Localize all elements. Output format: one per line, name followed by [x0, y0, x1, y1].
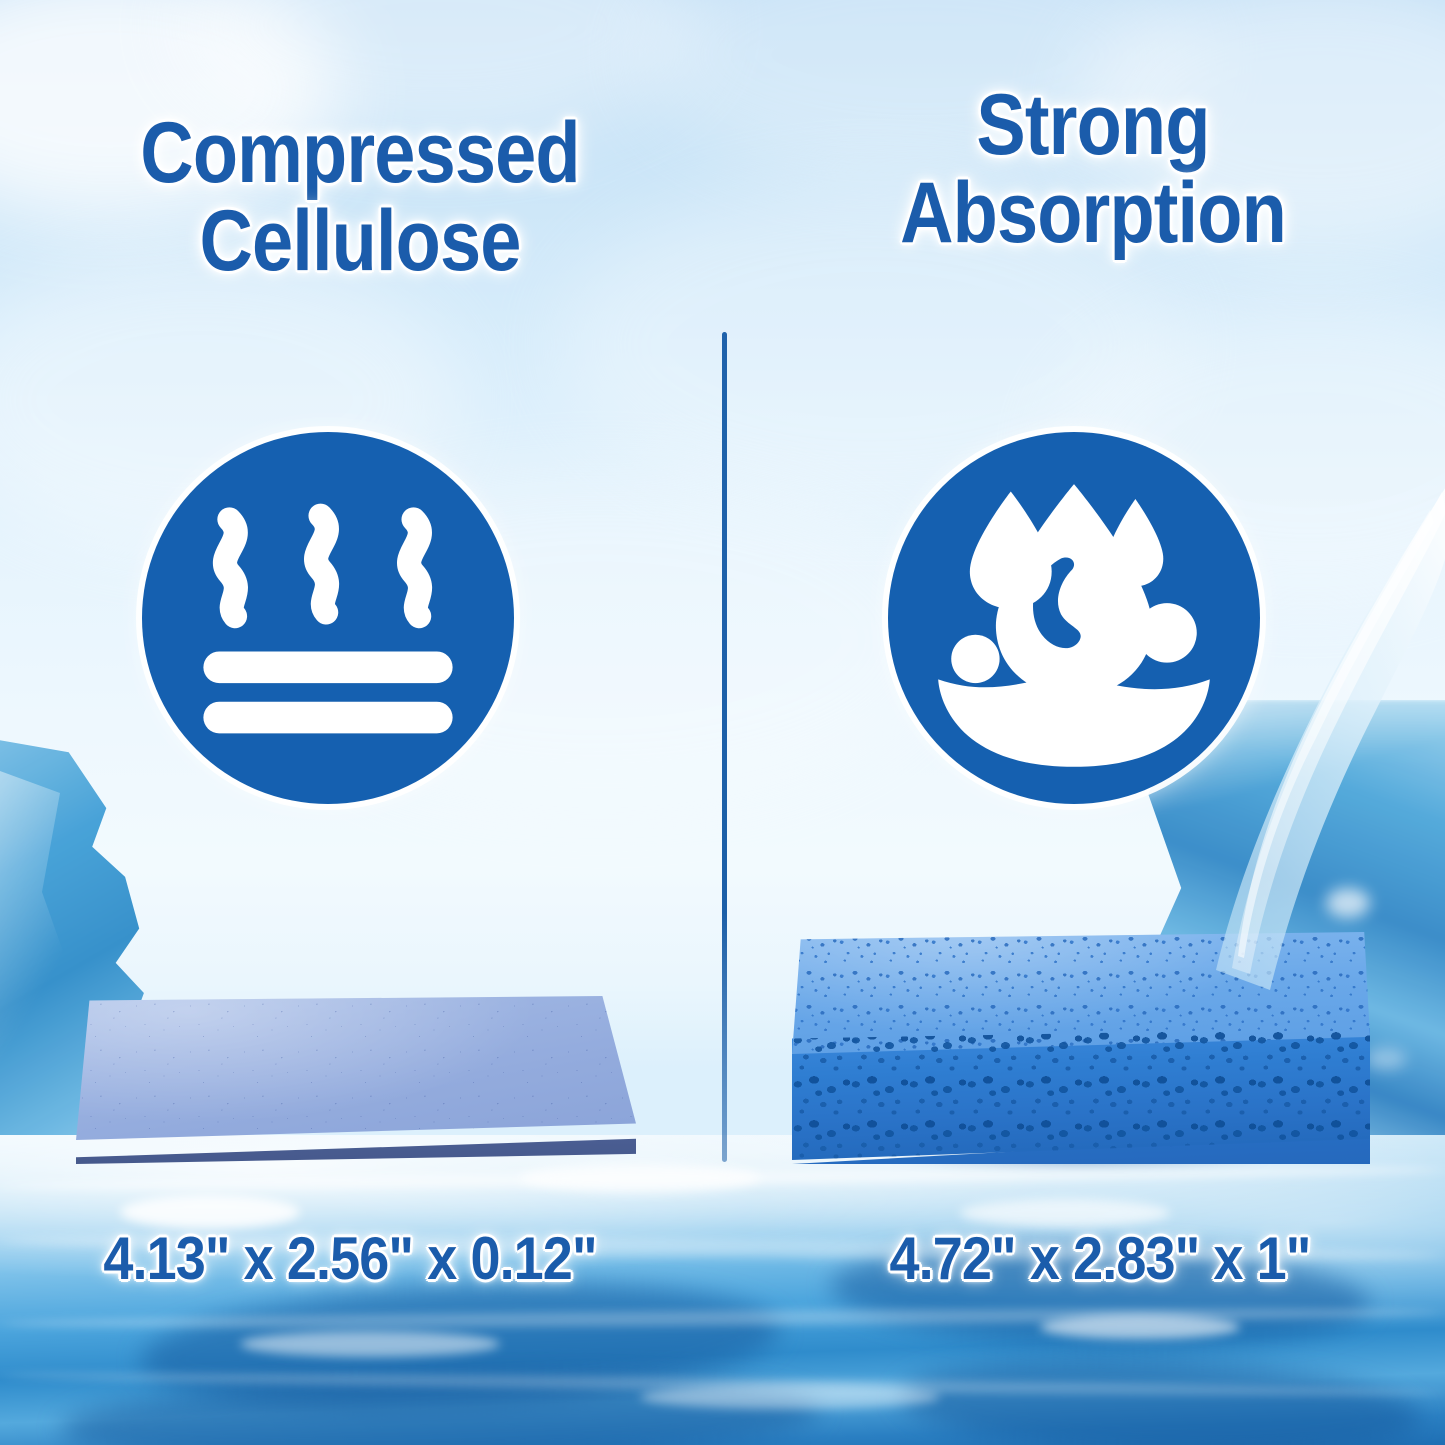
product-compressed-sheet [76, 996, 636, 1166]
product-expanded-sponge [792, 932, 1370, 1164]
headline-line-2: Cellulose [68, 198, 653, 286]
water-wave [898, 1349, 1422, 1445]
water-foam [240, 1331, 500, 1357]
panel-divider [722, 332, 727, 1162]
water-foam [960, 1199, 1170, 1227]
headline-line-1: Compressed [140, 105, 579, 201]
badge-water-absorption [888, 432, 1260, 804]
headline-line-1: Strong [976, 77, 1209, 173]
badge-compressed-layers [142, 432, 514, 804]
dimensions-compressed-sheet: 4.13" x 2.56" x 0.12" [53, 1224, 647, 1293]
water-droplet-absorption-icon [888, 432, 1260, 804]
sheet-texture [76, 996, 636, 1146]
compressed-layers-icon [142, 432, 514, 804]
sponge-top-face [792, 932, 1370, 1054]
water-foam [1040, 1315, 1240, 1339]
water-foam [640, 1385, 940, 1409]
headline-line-2: Absorption [796, 170, 1389, 258]
headline-compressed-cellulose: Compressed Cellulose [68, 110, 653, 285]
dimensions-expanded-sponge: 4.72" x 2.83" x 1" [803, 1224, 1397, 1293]
headline-strong-absorption: Strong Absorption [796, 82, 1389, 257]
product-infographic-scene: Compressed Cellulose Strong Absorption [0, 0, 1445, 1445]
water-foam [520, 1163, 760, 1193]
